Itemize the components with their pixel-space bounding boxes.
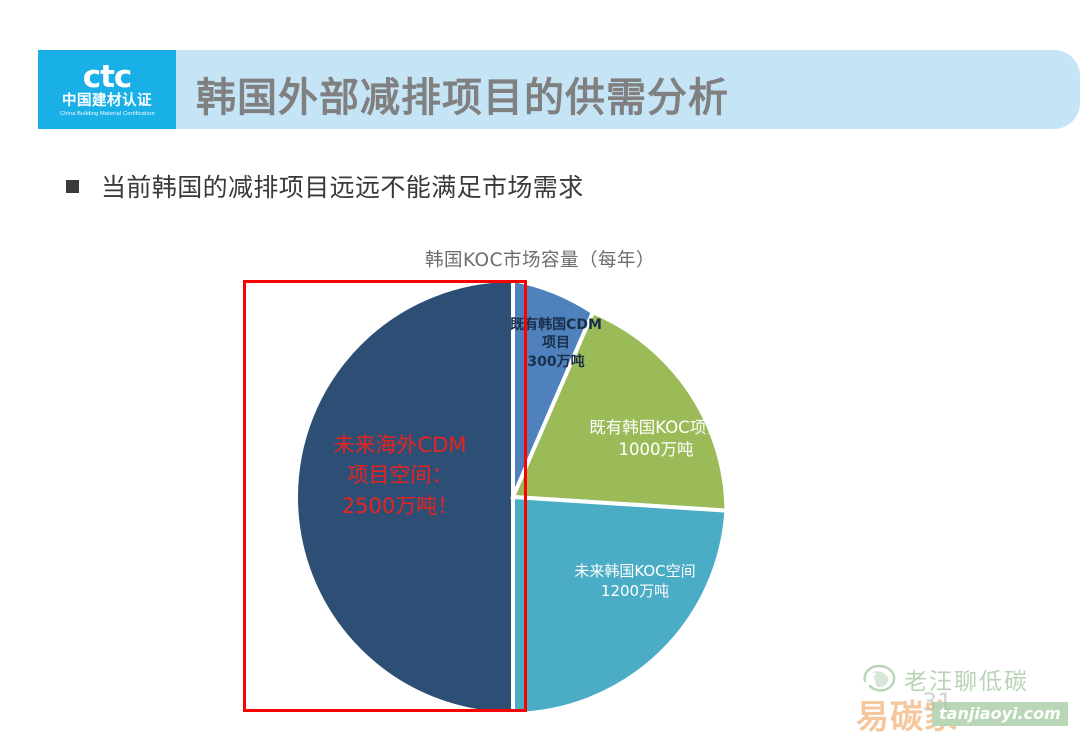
slice-label-existing-koc: 既有韩国KOC项目 1000万吨 bbox=[570, 417, 742, 461]
tanjiaoyi-watermark: 易碳家 tanjiaoyi.com bbox=[856, 690, 1068, 738]
slice-label-existing-koc-line2: 1000万吨 bbox=[570, 439, 742, 461]
pie-chart: 既有韩国CDM 项目 300万吨 既有韩国KOC项目 1000万吨 未来韩国KO… bbox=[0, 0, 1080, 739]
tanjiaoyi-domain: tanjiaoyi.com bbox=[932, 702, 1068, 726]
slice-label-existing-koc-line1: 既有韩国KOC项目 bbox=[570, 417, 742, 439]
slice-label-future-koc-line1: 未来韩国KOC空间 bbox=[549, 562, 721, 582]
pie-slice-future-koc bbox=[513, 497, 726, 714]
slice-label-future-koc-line2: 1200万吨 bbox=[549, 582, 721, 602]
red-highlight-rectangle bbox=[243, 280, 527, 712]
slice-label-future-koc: 未来韩国KOC空间 1200万吨 bbox=[549, 562, 721, 602]
